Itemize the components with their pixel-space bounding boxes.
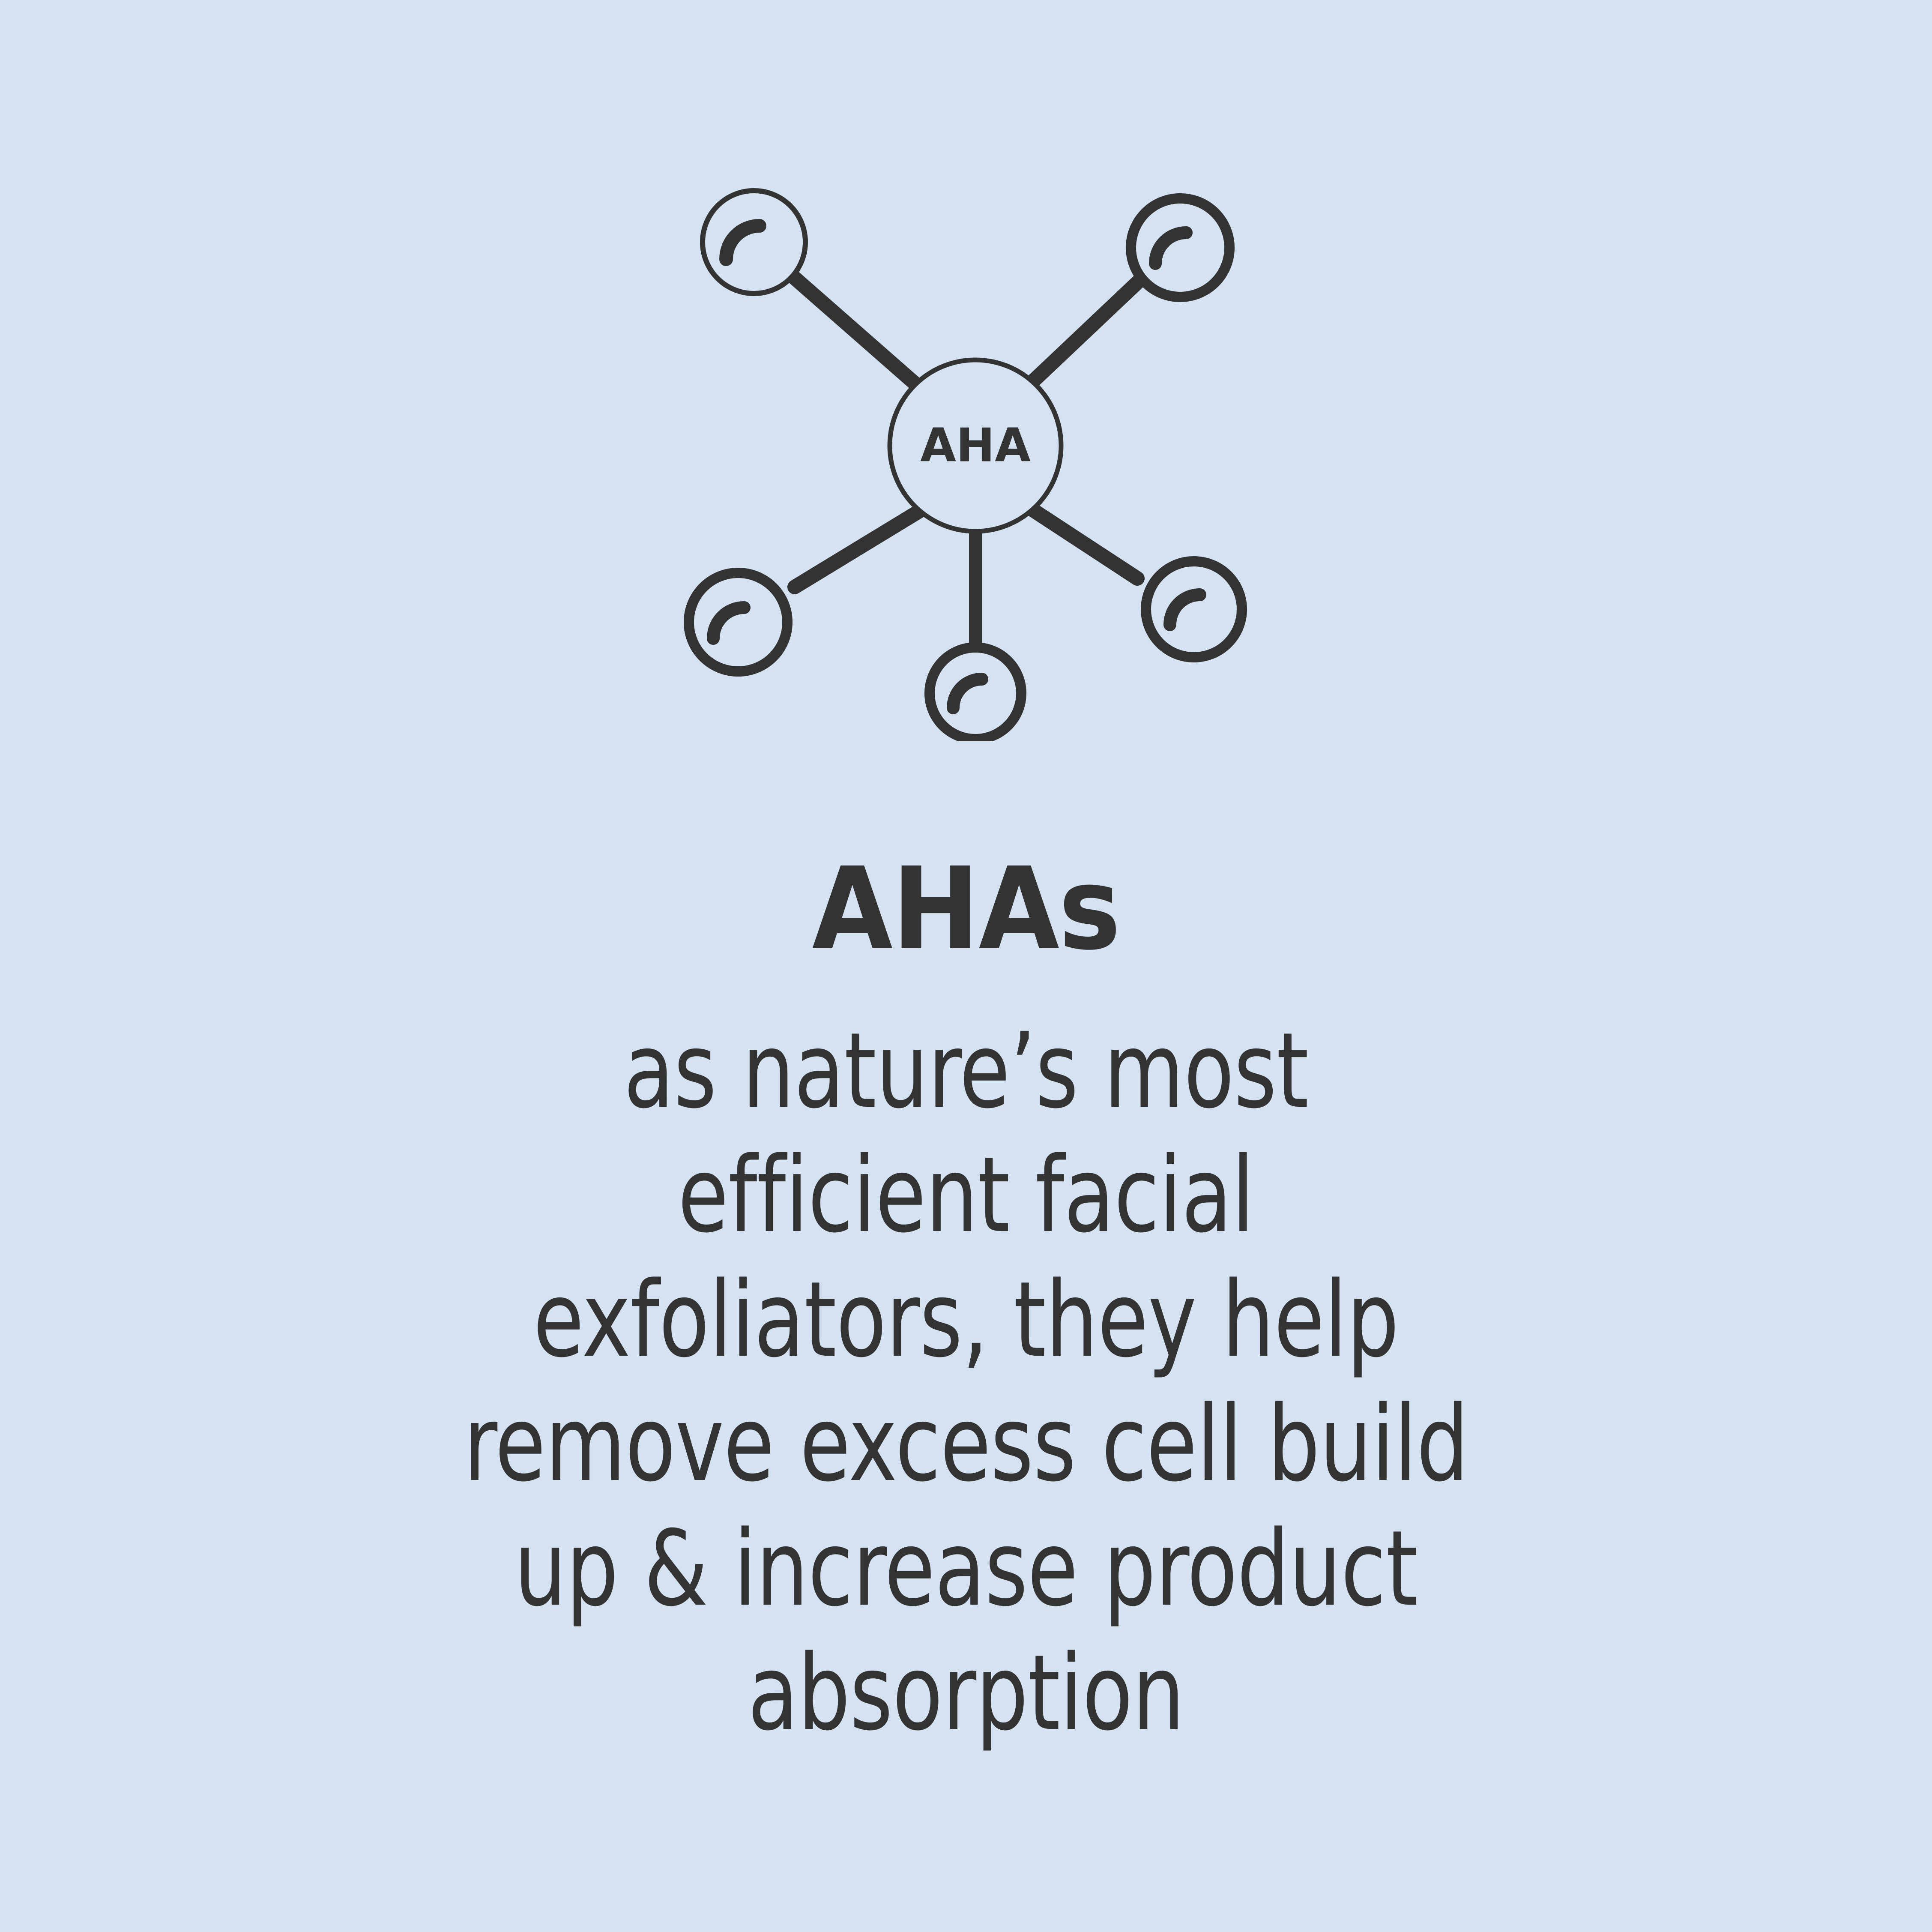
body-line: remove excess cell build (457, 1382, 1475, 1507)
diagram-container: AHA (0, 171, 1932, 750)
center-node: AHA (890, 360, 1061, 531)
page-title: AHAs (77, 853, 1854, 966)
body-paragraph: as nature’s most efficient facial exfoli… (457, 1009, 1475, 1755)
center-node-label: AHA (920, 419, 1031, 473)
bubble-node-right (1146, 561, 1242, 657)
aha-info-card: AHA (0, 0, 1932, 1932)
bubble-node-top-left (703, 191, 805, 294)
body-line: as nature’s most (457, 1009, 1475, 1133)
text-block: AHAs as nature’s most efficient facial e… (0, 853, 1932, 1755)
bubble-outline-top-left (703, 191, 805, 294)
bubble-outline-right (1146, 561, 1242, 657)
bubble-node-bottom (930, 647, 1021, 739)
body-line: up & increase product (457, 1507, 1475, 1631)
bubble-node-left (689, 573, 787, 671)
aha-molecule-diagram: AHA (666, 171, 1266, 741)
body-line: absorption (457, 1631, 1475, 1755)
body-line: exfoliators, they help (457, 1258, 1475, 1382)
bubble-node-top-right (1131, 198, 1229, 297)
bubble-outline-left (689, 573, 787, 671)
body-line: efficient facial (457, 1133, 1475, 1258)
bubble-outline-bottom (930, 647, 1021, 739)
bubble-outline-top-right (1131, 198, 1229, 297)
